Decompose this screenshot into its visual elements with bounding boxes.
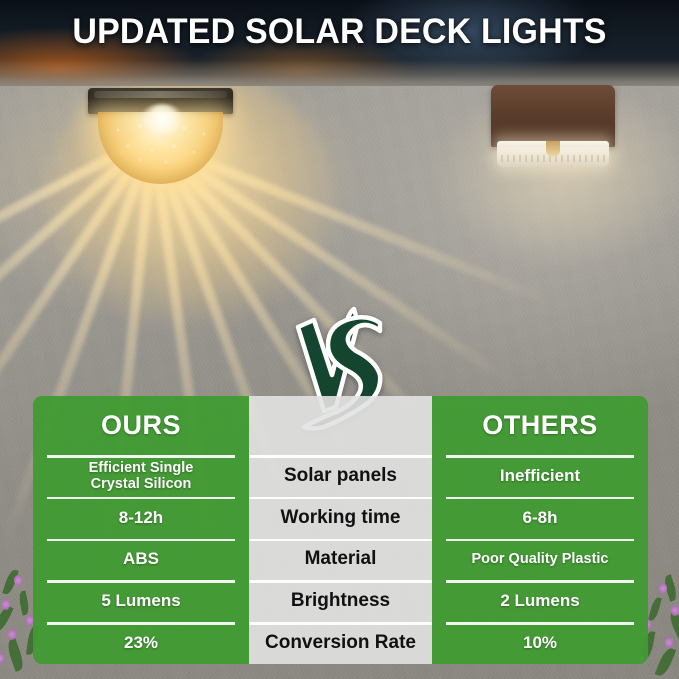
bronze-housing bbox=[491, 85, 615, 147]
cell-others-solar-panels: Inefficient bbox=[432, 455, 648, 497]
cell-ours-material: ABS bbox=[33, 539, 249, 581]
cell-feature-solar-panels: Solar panels bbox=[249, 455, 432, 497]
page-title: UPDATED SOLAR DECK LIGHTS bbox=[10, 12, 669, 52]
cell-feature-material: Material bbox=[249, 539, 432, 581]
product-comparison-image: UPDATED SOLAR DECK LIGHTS OURS Efficient… bbox=[0, 0, 679, 679]
column-header-feature bbox=[249, 396, 432, 455]
comparison-table: OURS Efficient Single Crystal Silicon 8-… bbox=[33, 396, 648, 664]
cell-others-conversion-rate: 10% bbox=[432, 622, 648, 664]
cell-feature-working-time: Working time bbox=[249, 497, 432, 539]
cell-feature-conversion-rate: Conversion Rate bbox=[249, 622, 432, 664]
cell-ours-brightness: 5 Lumens bbox=[33, 580, 249, 622]
column-header-others: OTHERS bbox=[432, 396, 648, 455]
column-header-ours: OURS bbox=[33, 396, 249, 455]
led-hotspot bbox=[140, 104, 184, 134]
cell-ours-conversion-rate: 23% bbox=[33, 622, 249, 664]
column-ours: OURS Efficient Single Crystal Silicon 8-… bbox=[33, 396, 249, 664]
ours-product-photo bbox=[88, 88, 233, 193]
column-others: OTHERS Inefficient 6-8h Poor Quality Pla… bbox=[432, 396, 648, 664]
cell-others-working-time: 6-8h bbox=[432, 497, 648, 539]
cell-others-brightness: 2 Lumens bbox=[432, 580, 648, 622]
cell-ours-working-time: 8-12h bbox=[33, 497, 249, 539]
others-product-photo bbox=[491, 85, 615, 173]
bulb-element bbox=[546, 141, 560, 157]
cell-feature-brightness: Brightness bbox=[249, 580, 432, 622]
column-feature: Solar panels Working time Material Brigh… bbox=[249, 396, 432, 664]
cell-others-material: Poor Quality Plastic bbox=[432, 539, 648, 581]
cell-ours-solar-panels: Efficient Single Crystal Silicon bbox=[33, 455, 249, 497]
